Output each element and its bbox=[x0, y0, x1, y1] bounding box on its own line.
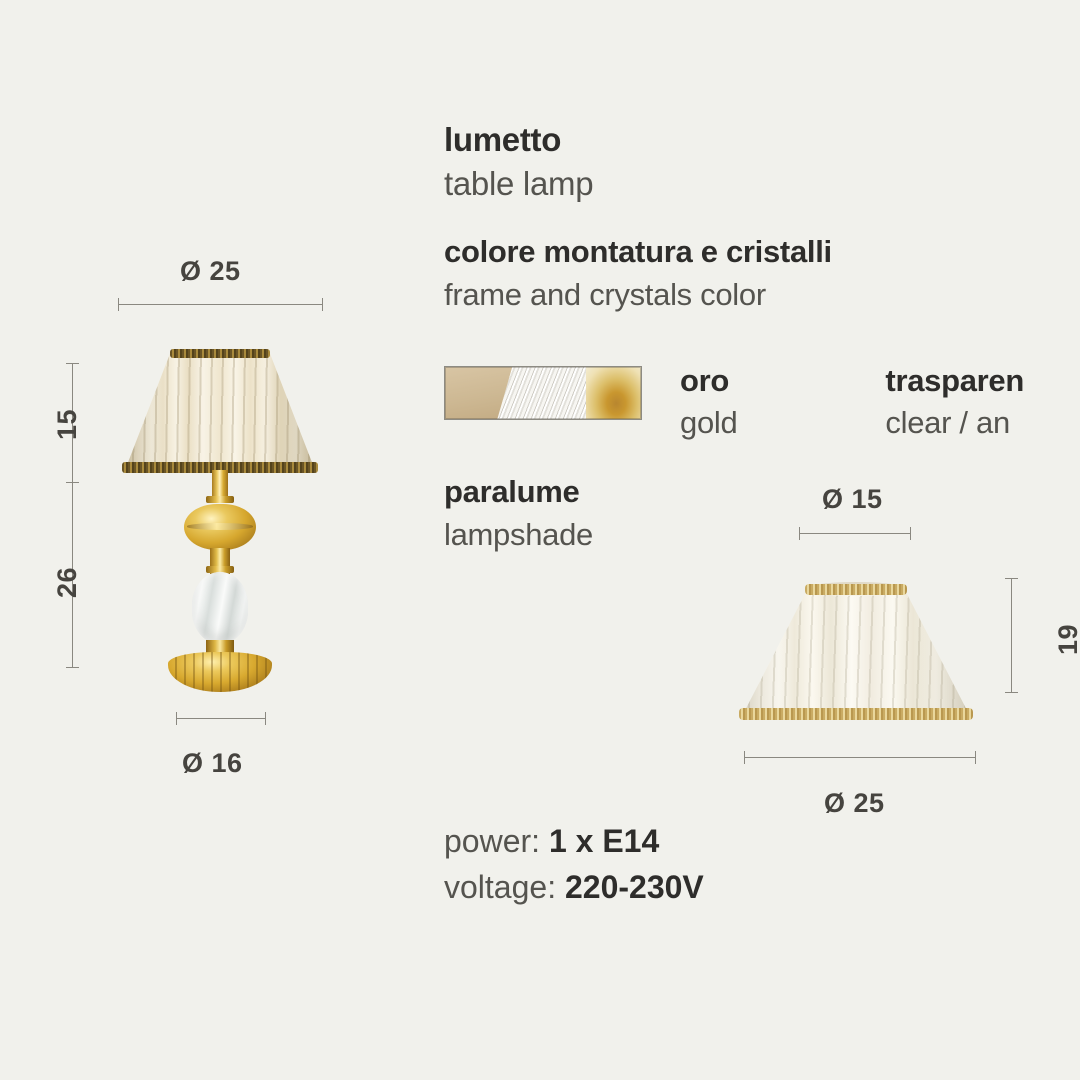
power-label: power: bbox=[444, 823, 540, 859]
lampshade-bottom-trim bbox=[739, 708, 973, 720]
lampshade-top-diameter-label: Ø 15 bbox=[822, 484, 883, 515]
lampshade-top-diameter-line bbox=[799, 533, 911, 534]
finish-options-row: oro gold trasparen clear / an bbox=[444, 360, 1024, 444]
lampshade-section-title-en: lampshade bbox=[444, 513, 593, 556]
lampshade-section-title-it: paralume bbox=[444, 470, 593, 513]
swatch-border bbox=[445, 367, 641, 419]
lamp-shade-shading bbox=[125, 352, 315, 470]
lamp-top-diameter-line bbox=[118, 304, 323, 305]
voltage-spec-line: voltage: 220-230V bbox=[444, 864, 704, 910]
color-section-title-block: colore montatura e cristalli frame and c… bbox=[444, 230, 832, 316]
lamp-shade-graphic bbox=[125, 352, 315, 470]
lamp-gold-ornament bbox=[184, 504, 256, 550]
lampshade-bottom-diameter-label: Ø 25 bbox=[824, 788, 885, 819]
lampshade-body-graphic bbox=[742, 588, 970, 716]
finish-clear-label-en: clear / an bbox=[885, 402, 1024, 444]
color-section-title-it: colore montatura e cristalli bbox=[444, 230, 832, 273]
lamp-stem-ring-upper bbox=[206, 496, 234, 503]
lamp-ornament-band bbox=[187, 523, 253, 529]
lamp-height-midpoint-tick bbox=[66, 482, 79, 483]
voltage-value: 220-230V bbox=[565, 869, 704, 905]
lamp-base-flutes bbox=[168, 652, 272, 692]
product-name-en: table lamp bbox=[444, 162, 593, 206]
lampshade-height-label: 19 bbox=[1053, 624, 1080, 655]
lampshade-height-dimension-line bbox=[1011, 578, 1012, 693]
lamp-shade-top-trim bbox=[170, 349, 270, 358]
lampshade-shading bbox=[742, 588, 970, 716]
product-title-block: lumetto table lamp bbox=[444, 118, 593, 206]
table-lamp-illustration bbox=[120, 352, 320, 672]
lamp-base-diameter-label: Ø 16 bbox=[182, 748, 243, 779]
finish-clear-label-it: trasparen bbox=[885, 360, 1024, 402]
finish-gold-label-it: oro bbox=[680, 360, 737, 402]
lamp-base-height-label: 26 bbox=[52, 567, 83, 598]
finish-option-clear: trasparen clear / an bbox=[885, 360, 1024, 444]
lampshade-top-trim bbox=[805, 584, 907, 595]
lampshade-bottom-diameter-line bbox=[744, 757, 976, 758]
spec-sheet-canvas: Ø 25 15 26 Ø 16 lumetto table lamp color… bbox=[0, 0, 1080, 1080]
electrical-specs-block: power: 1 x E14 voltage: 220-230V bbox=[444, 818, 704, 910]
lamp-base-graphic bbox=[168, 652, 272, 692]
finish-gold-label-en: gold bbox=[680, 402, 737, 444]
color-section-title-en: frame and crystals color bbox=[444, 273, 832, 316]
lamp-shade-height-label: 15 bbox=[52, 409, 83, 440]
finish-option-gold: oro gold bbox=[680, 360, 737, 444]
power-spec-line: power: 1 x E14 bbox=[444, 818, 704, 864]
lamp-top-diameter-label: Ø 25 bbox=[180, 256, 241, 287]
lampshade-section-title-block: paralume lampshade bbox=[444, 470, 593, 556]
power-value: 1 x E14 bbox=[549, 823, 659, 859]
gold-crystal-amber-swatch[interactable] bbox=[444, 366, 642, 420]
lamp-base-diameter-line bbox=[176, 718, 266, 719]
product-name-it: lumetto bbox=[444, 118, 593, 162]
lamp-crystal-ball bbox=[192, 572, 248, 644]
voltage-label: voltage: bbox=[444, 869, 556, 905]
lampshade-illustration bbox=[742, 580, 970, 728]
